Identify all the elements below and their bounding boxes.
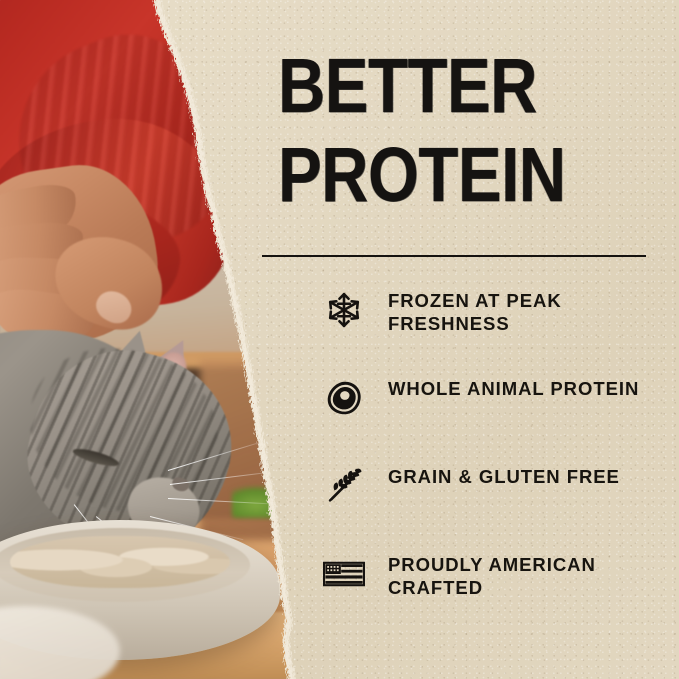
headline-line-2: PROTEIN	[278, 141, 673, 212]
feature-label: WHOLE ANIMAL PROTEIN	[388, 374, 639, 400]
feature-item-grain-gluten-free: GRAIN & GLUTEN FREE	[322, 462, 662, 550]
usa-flag-icon	[322, 552, 366, 596]
feature-label: FROZEN AT PEAK FRESHNESS	[388, 286, 643, 336]
feature-item-whole-animal-protein: WHOLE ANIMAL PROTEIN	[322, 374, 662, 462]
feature-list: FROZEN AT PEAK FRESHNESS WHOLE ANIMAL PR…	[322, 286, 662, 638]
feature-label: PROUDLY AMERICAN CRAFTED	[388, 550, 643, 600]
feature-item-american-crafted: PROUDLY AMERICAN CRAFTED	[322, 550, 662, 638]
wheat-crossed-icon	[322, 464, 366, 508]
headline-block: BETTER PROTEIN	[278, 52, 658, 199]
wet-cat-food	[10, 536, 230, 588]
product-feature-banner: BETTER PROTEIN	[0, 0, 679, 679]
feature-item-frozen: FROZEN AT PEAK FRESHNESS	[322, 286, 662, 374]
horizontal-divider	[262, 255, 646, 257]
headline-line-1: BETTER	[278, 52, 673, 123]
feature-label: GRAIN & GLUTEN FREE	[388, 462, 620, 488]
meat-cut-icon	[322, 376, 366, 420]
snowflake-icon	[322, 288, 366, 332]
